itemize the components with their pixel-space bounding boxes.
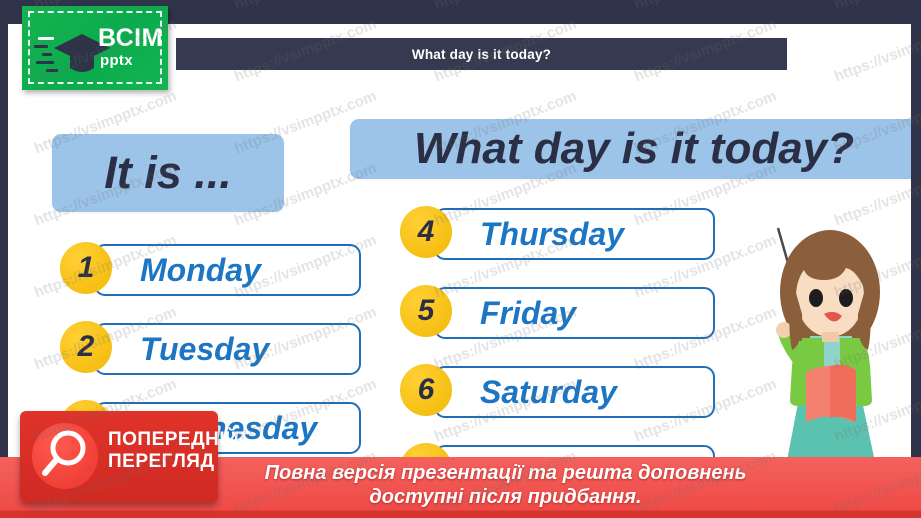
day-box[interactable]: Saturday: [434, 366, 715, 418]
purchase-banner-line1: Повна версія презентації та решта доповн…: [265, 462, 747, 486]
purchase-banner-text: Повна версія презентації та решта доповн…: [265, 462, 747, 509]
question-chip: What day is it today?: [350, 119, 911, 179]
vsimpptx-logo[interactable]: ВСІМ pptx: [22, 6, 168, 90]
purchase-banner-line2: доступні після придбання.: [265, 486, 747, 510]
watermark-text: https://vsimpptx.com: [232, 0, 379, 13]
day-label: Tuesday: [140, 331, 269, 368]
day-box[interactable]: Tuesday: [94, 323, 361, 375]
watermark-text: https://vsimpptx.com: [432, 0, 579, 13]
day-label: Thursday: [480, 216, 624, 253]
preview-badge-line2: ПЕРЕГЛЯД: [108, 451, 239, 473]
day-number-badge: 5: [400, 285, 452, 337]
logo-name: ВСІМ: [98, 26, 163, 51]
logo-subname: pptx: [100, 53, 133, 68]
slide-header-bar: What day is it today?: [176, 38, 787, 70]
slide-header-title: What day is it today?: [412, 47, 551, 62]
day-box[interactable]: Thursday: [434, 208, 715, 260]
day-number-badge: 4: [400, 206, 452, 258]
day-number-badge: 6: [400, 364, 452, 416]
watermark-text: https://vsimpptx.com: [632, 0, 779, 13]
preview-badge-line1: ПОПЕРЕДНІЙ: [108, 429, 239, 451]
day-label: Saturday: [480, 374, 617, 411]
preview-badge-text: ПОПЕРЕДНІЙ ПЕРЕГЛЯД: [108, 429, 239, 474]
preview-badge[interactable]: ПОПЕРЕДНІЙ ПЕРЕГЛЯД: [20, 411, 218, 502]
day-number-badge: 2: [60, 321, 112, 373]
app-root: 1 Monday 2 Tuesday 3 Wednesday 4 Thursda…: [0, 0, 921, 518]
day-label: Friday: [480, 295, 576, 332]
watermark-text: https://vsimpptx.com: [832, 0, 921, 13]
day-box[interactable]: Monday: [94, 244, 361, 296]
magnifier-icon: [32, 423, 98, 489]
day-box[interactable]: Friday: [434, 287, 715, 339]
it-is-chip: It is ...: [52, 134, 284, 212]
day-label: Monday: [140, 252, 261, 289]
graduation-cap-icon: [52, 32, 98, 66]
day-number-badge: 1: [60, 242, 112, 294]
